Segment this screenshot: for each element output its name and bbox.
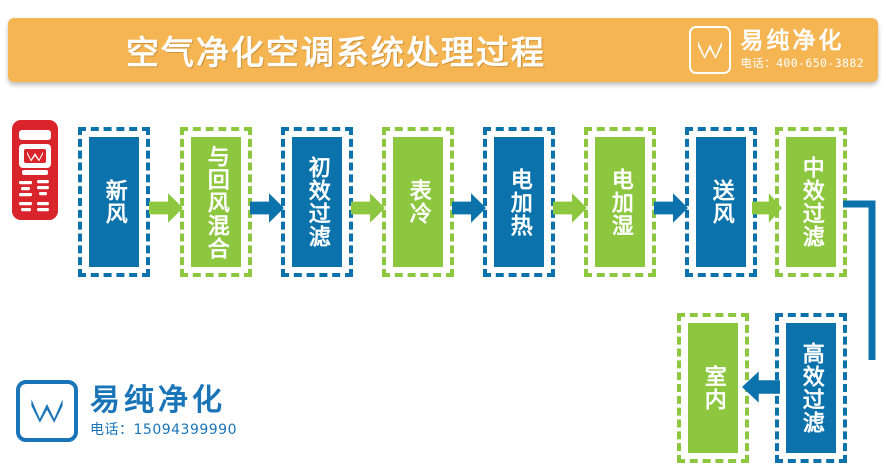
flow-node-fill: 新风 [89, 137, 139, 267]
yichun-logo-mark-icon [16, 380, 78, 442]
flow-node-fill: 与回风混合 [191, 137, 241, 267]
flow-node-label: 送风 [709, 179, 733, 225]
header-brand-text: 易纯净化 电话：400-650-3882 [740, 30, 864, 70]
flow-node-fill: 送风 [696, 137, 746, 267]
flow-arrow-left [742, 370, 780, 404]
flow-node-fill: 电加湿 [595, 137, 645, 267]
flow-node-mix-return-air[interactable]: 与回风混合 [180, 127, 252, 277]
flow-node-electric-heater[interactable]: 电加热 [483, 127, 555, 277]
footer-brand-text: 易纯净化 电话：15094399990 [90, 386, 237, 437]
flow-node-hepa-filter[interactable]: 高效过滤 [775, 313, 847, 463]
flow-node-label: 与回风混合 [204, 145, 228, 260]
flow-node-supply-air[interactable]: 送风 [685, 127, 757, 277]
header-brand-phone: 电话：400-650-3882 [740, 58, 864, 70]
flow-node-medium-filter[interactable]: 中效过滤 [775, 127, 847, 277]
flow-node-label: 中效过滤 [799, 156, 823, 248]
flow-arrow-right [553, 192, 587, 224]
flow-node-label: 室内 [701, 365, 725, 411]
flow-node-label: 表冷 [406, 179, 430, 225]
flow-node-electric-humidifier[interactable]: 电加湿 [584, 127, 656, 277]
flow-node-label: 电加湿 [608, 168, 632, 237]
flow-node-label: 高效过滤 [799, 342, 823, 434]
flow-arrow-right [149, 192, 183, 224]
flow-node-primary-filter[interactable]: 初效过滤 [281, 127, 353, 277]
flow-node-indoor[interactable]: 室内 [677, 313, 749, 463]
flow-node-fill: 表冷 [393, 137, 443, 267]
medium-to-hepa-connector [843, 200, 886, 390]
flow-node-label: 电加热 [507, 168, 531, 237]
flow-node-surface-cooler[interactable]: 表冷 [382, 127, 454, 277]
flow-node-fill: 室内 [688, 323, 738, 453]
flow-node-fill: 电加热 [494, 137, 544, 267]
flow-node-fresh-air[interactable]: 新风 [78, 127, 150, 277]
flow-arrow-right [752, 192, 782, 224]
flow-node-fill: 初效过滤 [292, 137, 342, 267]
page-title: 空气净化空调系统处理过程 [126, 26, 546, 74]
flow-arrow-right [452, 192, 486, 224]
footer-brand-phone: 电话：15094399990 [90, 423, 237, 437]
flow-arrow-right [351, 192, 385, 224]
yichun-logo-mark-icon [689, 26, 731, 74]
flow-arrow-right [654, 192, 688, 224]
flow-node-fill: 高效过滤 [786, 323, 836, 453]
header-banner: 空气净化空调系统处理过程 易纯净化 电话：400-650-3882 [8, 18, 878, 82]
header-brand-name: 易纯净化 [740, 30, 864, 53]
flow-node-fill: 中效过滤 [786, 137, 836, 267]
red-seal-watermark [10, 118, 60, 222]
flow-node-label: 新风 [102, 179, 126, 225]
footer-brand-name: 易纯净化 [90, 386, 237, 416]
header-brand: 易纯净化 电话：400-650-3882 [689, 26, 864, 74]
footer-logo: 易纯净化 电话：15094399990 [16, 380, 237, 442]
flow-arrow-right [250, 192, 284, 224]
flow-node-label: 初效过滤 [305, 156, 329, 248]
